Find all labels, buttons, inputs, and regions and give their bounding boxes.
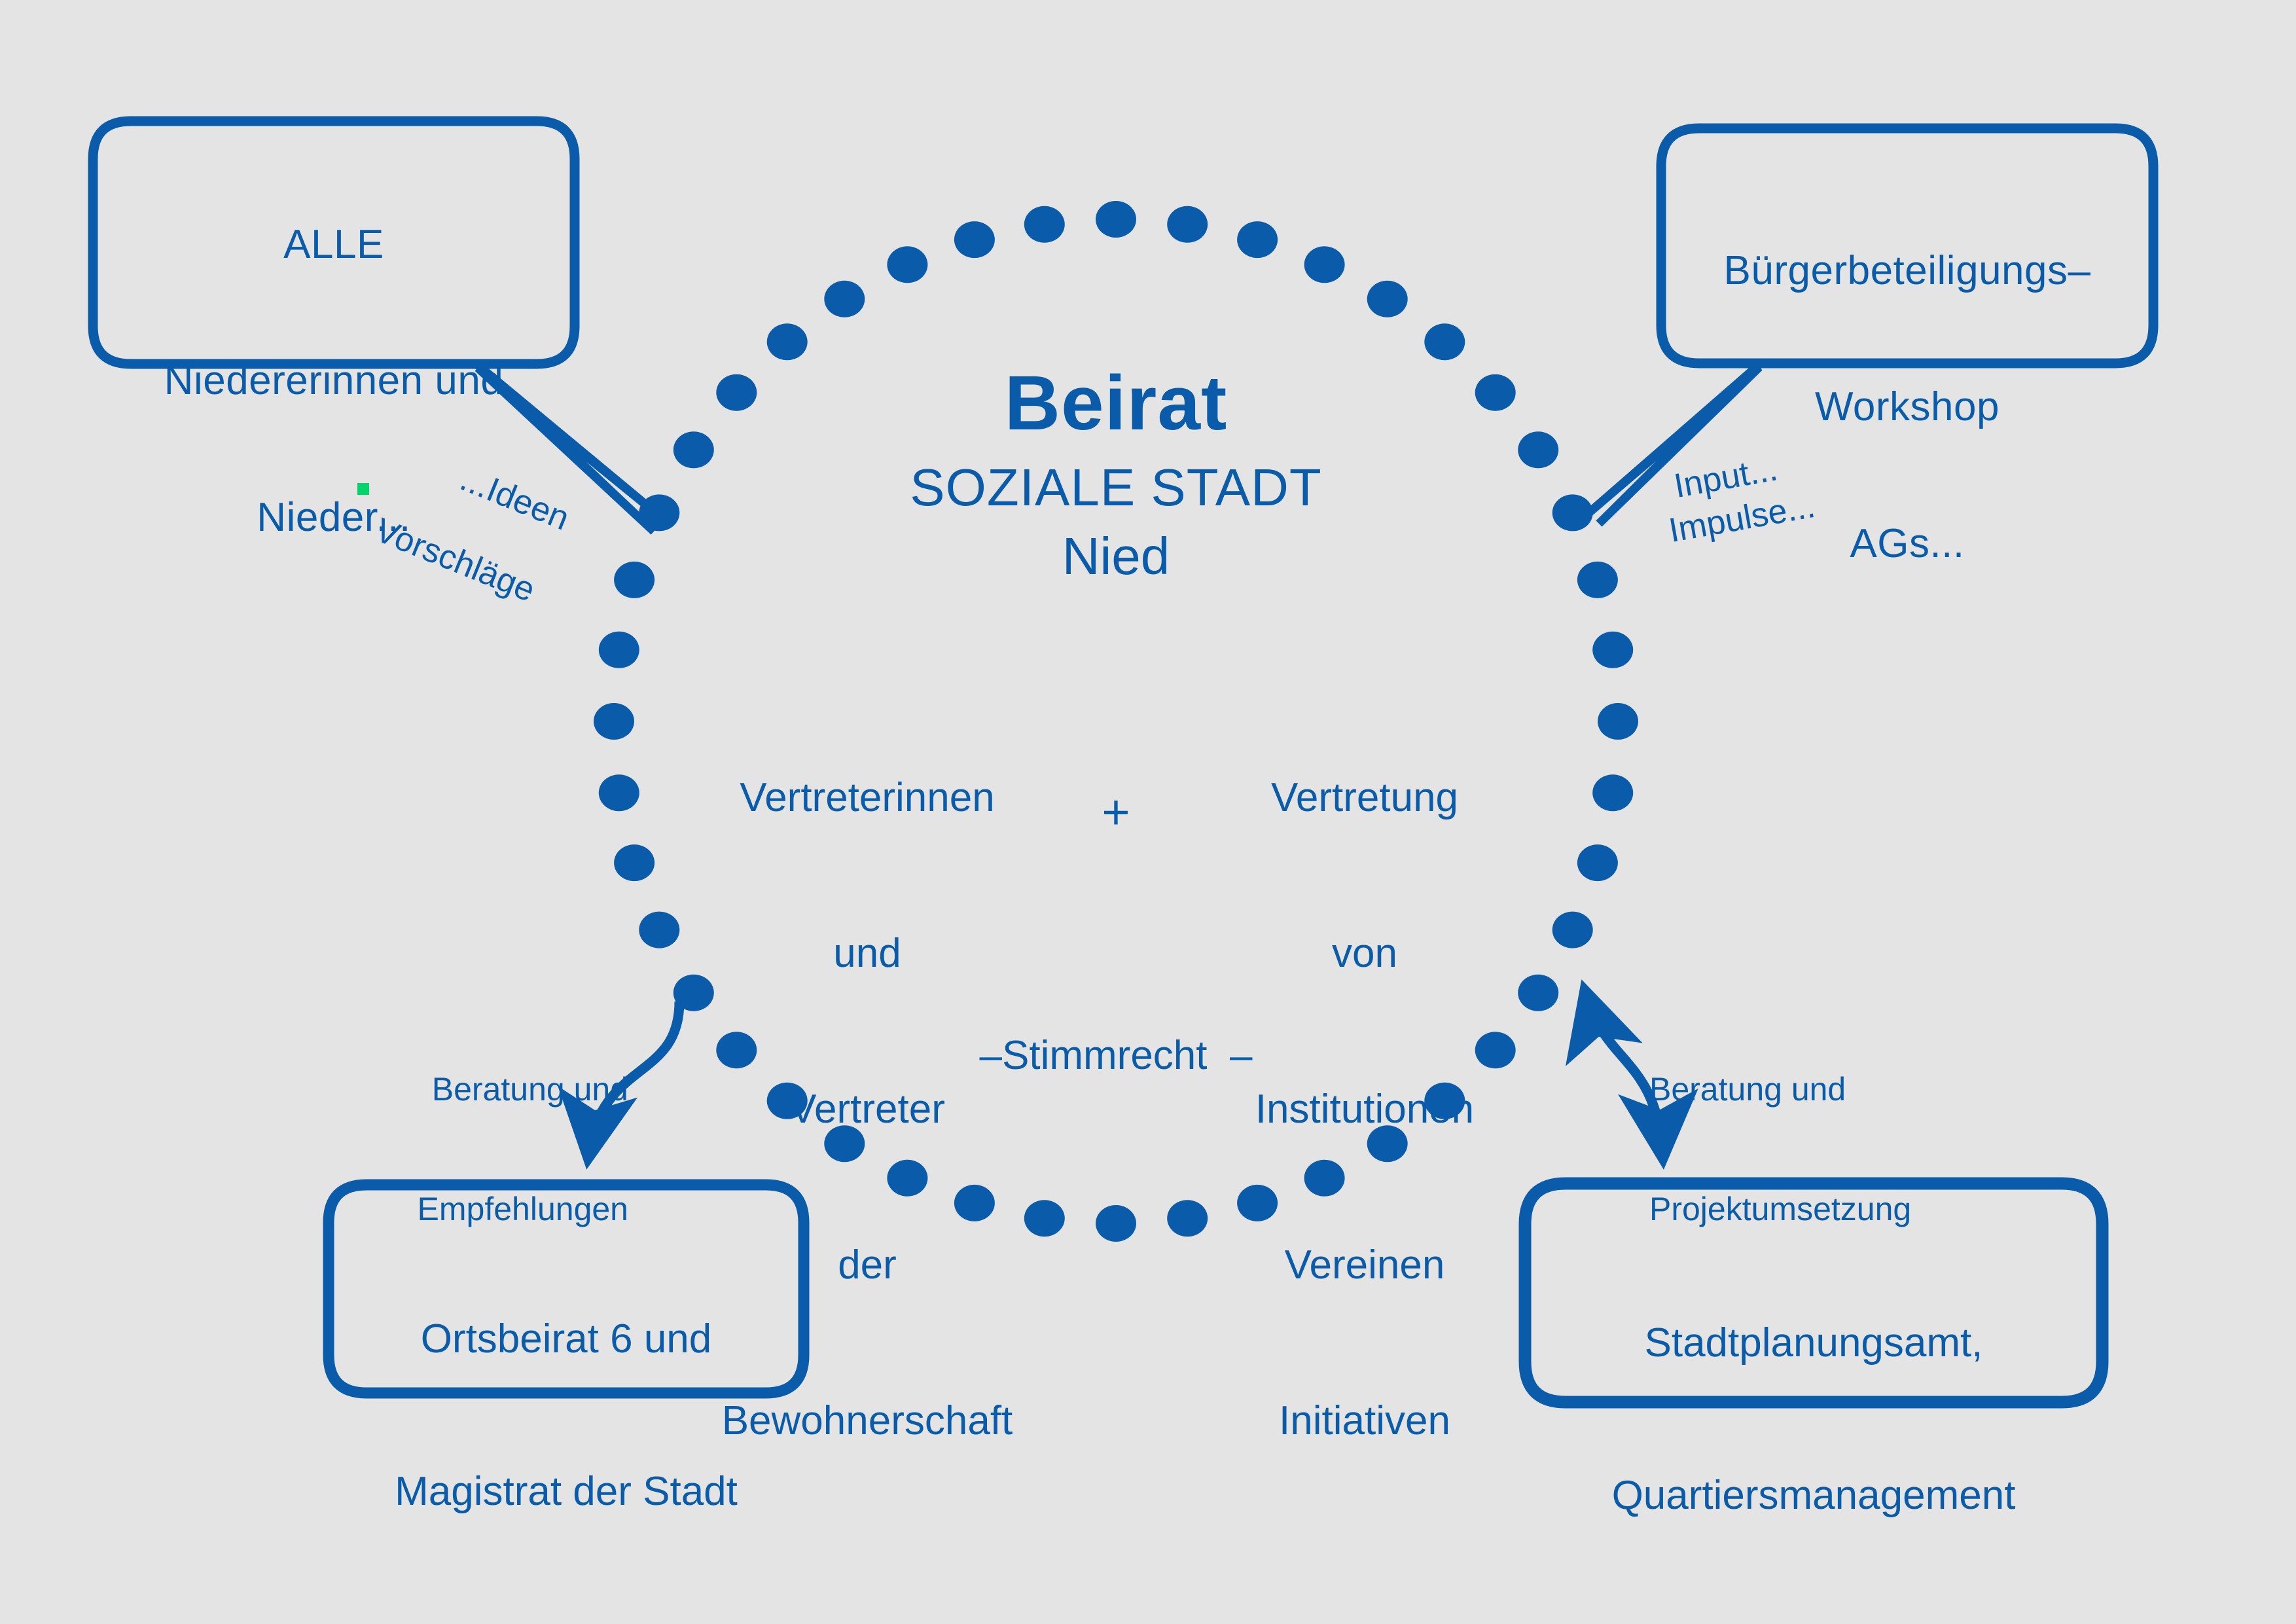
center-right-line-4: Vereinen — [1191, 1239, 1538, 1291]
ring-dot — [1167, 206, 1208, 243]
center-left-line-2: und — [694, 928, 1041, 979]
ring-dot — [767, 323, 808, 360]
right-bubble-text: Bürgerbeteiligungs– Workshop AGs... — [1661, 157, 2153, 657]
right-bubble-line-2: Workshop — [1661, 384, 2153, 429]
left-bubble-line-1: ALLE — [93, 222, 575, 267]
ring-dot — [1304, 246, 1345, 283]
ring-dot — [1518, 431, 1558, 468]
center-subtitle-line2: Nied — [789, 527, 1443, 586]
ring-dot — [1592, 632, 1633, 668]
ring-dot — [1024, 206, 1065, 243]
center-right-line-3: Institutionen — [1191, 1083, 1538, 1135]
ring-dot — [594, 703, 634, 740]
label-beratung-projektumsetzung-line-1: Beratung und — [1649, 1070, 1964, 1110]
ring-dot — [1424, 323, 1465, 360]
ring-dot — [1237, 221, 1278, 258]
page-title: Beirat — [789, 360, 1443, 446]
bottom-right-box-line-1: Stadtplanungsamt, — [1525, 1318, 2102, 1369]
bottom-left-box-text: Ortsbeirat 6 und Magistrat der Stadt Fra… — [329, 1212, 804, 1624]
bottom-right-box-line-2: Quartiersmanagement — [1525, 1470, 2102, 1521]
ring-dot — [1598, 703, 1638, 740]
left-bubble-text: ALLE Niedererinnen und Nieder... — [93, 131, 575, 631]
ring-dot — [673, 431, 714, 468]
right-bubble-line-1: Bürgerbeteiligungs– — [1661, 248, 2153, 293]
ring-dot — [1096, 201, 1136, 238]
ring-dot — [639, 912, 679, 948]
center-left-line-1: Vertreterinnen — [694, 772, 1041, 823]
bottom-left-box-line-3: Frankfurt am Main — [329, 1618, 804, 1624]
bottom-left-box-line-1: Ortsbeirat 6 und — [329, 1314, 804, 1365]
ring-dot — [599, 774, 639, 811]
diagram-canvas: ALLE Niedererinnen und Nieder... Bürgerb… — [0, 0, 2296, 1624]
bottom-left-box-line-2: Magistrat der Stadt — [329, 1466, 804, 1517]
ring-dot — [824, 281, 865, 317]
ring-dot — [954, 221, 995, 258]
ring-dot — [1475, 374, 1516, 411]
ring-dot — [1592, 774, 1633, 811]
plus-sign: + — [1080, 785, 1152, 840]
label-beratung-empfehlungen-line-1: Beratung und — [367, 1070, 628, 1110]
center-right-line-5: Initiativen — [1191, 1395, 1538, 1447]
ring-dot — [1577, 562, 1618, 598]
center-left-line-3: Vertreter — [694, 1083, 1041, 1135]
ring-dot — [614, 844, 655, 881]
ring-dot — [887, 246, 927, 283]
left-bubble-line-2: Niedererinnen und — [93, 358, 575, 403]
ring-dot — [1096, 1205, 1136, 1242]
ring-dot — [1367, 281, 1408, 317]
bottom-right-box-text: Stadtplanungsamt, Quartiersmanagement un… — [1525, 1216, 2102, 1624]
ring-dot — [716, 374, 757, 411]
ring-dot — [1552, 912, 1593, 948]
green-marker-icon — [357, 483, 369, 495]
center-right-column: Vertretung von Institutionen Vereinen In… — [1191, 668, 1538, 1551]
center-right-line-2: von — [1191, 928, 1538, 979]
center-subtitle-line1: SOZIALE STADT — [789, 458, 1443, 517]
center-right-line-1: Vertretung — [1191, 772, 1538, 823]
stimmrecht-label: –Stimmrecht – — [887, 1033, 1345, 1078]
ring-dot — [1577, 844, 1618, 881]
